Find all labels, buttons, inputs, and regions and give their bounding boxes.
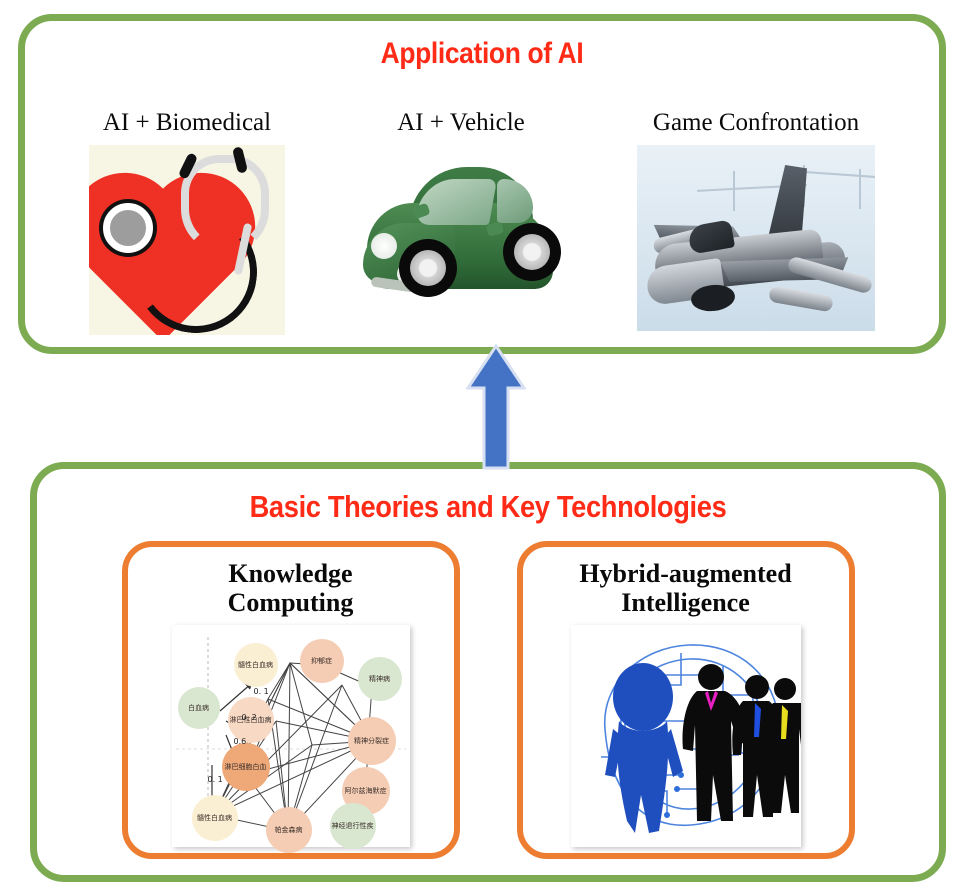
knowledge-graph-node: 抑郁症 bbox=[300, 639, 344, 683]
green-car-image bbox=[361, 145, 561, 325]
page-title: Application of AI bbox=[80, 37, 884, 71]
knowledge-graph-node: 髓性白血病 bbox=[192, 795, 238, 841]
stethoscope-binaural-icon bbox=[181, 155, 269, 253]
knowledge-graph-edge-weight: 0. 2 bbox=[242, 713, 257, 722]
application-item-biomedical[interactable]: AI + Biomedical bbox=[89, 109, 285, 335]
card-title-line2: Intelligence bbox=[621, 588, 750, 617]
card-title: Knowledge Computing bbox=[228, 559, 354, 617]
background-tower bbox=[733, 171, 735, 211]
card-title-line1: Knowledge bbox=[228, 559, 352, 588]
car-wheel-front bbox=[399, 239, 457, 297]
knowledge-graph-edge-weight: 0.6 bbox=[234, 737, 247, 746]
people-silhouettes bbox=[682, 664, 800, 821]
application-item-game[interactable]: Game Confrontation bbox=[637, 109, 875, 331]
car-side-window bbox=[497, 179, 533, 223]
application-item-label: Game Confrontation bbox=[653, 109, 859, 137]
knowledge-graph-node: 髓性白血病 bbox=[234, 643, 278, 687]
card-title: Hybrid-augmented Intelligence bbox=[579, 559, 791, 617]
application-item-label: AI + Biomedical bbox=[103, 109, 271, 137]
circuit-brain-people-image bbox=[571, 625, 801, 847]
knowledge-graph-edge-weight: 0. 1 bbox=[208, 775, 223, 784]
background-tower bbox=[859, 169, 861, 209]
jet-missile bbox=[768, 286, 834, 313]
knowledge-graph-node: 神经退行性疾 bbox=[330, 803, 376, 849]
knowledge-graph-node: 帕金森病 bbox=[266, 807, 312, 853]
heart-stethoscope-image bbox=[89, 145, 285, 335]
basic-theories-panel: Basic Theories and Key Technologies Know… bbox=[30, 462, 946, 882]
card-knowledge-computing[interactable]: Knowledge Computing bbox=[122, 541, 460, 859]
circuit-board-brain-graphic bbox=[571, 625, 801, 847]
application-of-ai-panel: Application of AI AI + Biomedical AI + V… bbox=[18, 14, 946, 354]
card-hybrid-augmented-intelligence[interactable]: Hybrid-augmented Intelligence bbox=[517, 541, 855, 859]
application-item-vehicle[interactable]: AI + Vehicle bbox=[361, 109, 561, 325]
section-title: Basic Theories and Key Technologies bbox=[91, 489, 885, 525]
application-item-label: AI + Vehicle bbox=[397, 109, 525, 137]
card-title-line2: Computing bbox=[228, 588, 354, 617]
knowledge-graph-node: 淋巴细胞白血 bbox=[222, 743, 270, 791]
knowledge-graph-node: 精神分裂症 bbox=[348, 717, 396, 765]
knowledge-graph-image: 白血病髓性白血病抑郁症精神病淋巴性白血病淋巴细胞白血精神分裂症阿尔兹海默症髓性白… bbox=[172, 625, 410, 847]
car-headlight bbox=[371, 233, 397, 259]
knowledge-graph-node: 白血病 bbox=[178, 687, 220, 729]
up-arrow-icon bbox=[466, 344, 526, 470]
car-wheel-rear bbox=[503, 223, 561, 281]
blue-silhouette bbox=[605, 663, 683, 833]
stethoscope-chestpiece-icon bbox=[103, 203, 153, 253]
application-items-row: AI + Biomedical AI + Vehicle bbox=[25, 109, 939, 335]
fighter-jet-image bbox=[637, 145, 875, 331]
knowledge-graph-edge-weight: 0. 1 bbox=[254, 687, 269, 696]
card-title-line1: Hybrid-augmented bbox=[579, 559, 791, 588]
technology-cards-row: Knowledge Computing bbox=[37, 541, 939, 859]
knowledge-graph-node: 精神病 bbox=[358, 657, 402, 701]
